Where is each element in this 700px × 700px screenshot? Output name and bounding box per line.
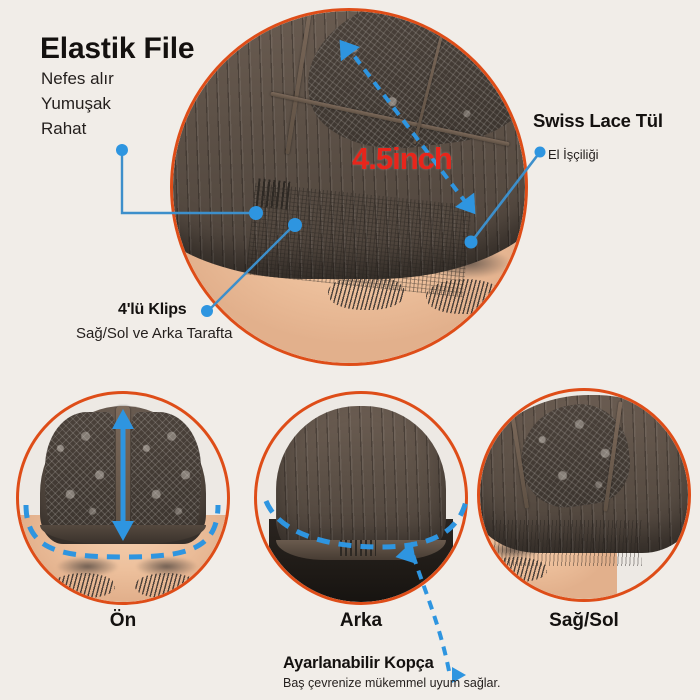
wig-cap-top-view bbox=[173, 11, 525, 363]
top-feature-panel: Elastik File Nefes alır Yumuşak Rahat Sw… bbox=[0, 0, 700, 375]
adjustable-strap-hook bbox=[340, 540, 375, 557]
wig-cap-front-view bbox=[19, 394, 227, 602]
measurement-label: 4.5inch bbox=[352, 142, 452, 176]
elastic-feature-title: Elastik File bbox=[40, 32, 194, 66]
elastic-line-2: Yumuşak bbox=[41, 91, 114, 116]
wig-cap-side-view bbox=[480, 391, 688, 599]
swiss-lace-title: Swiss Lace Tül bbox=[533, 110, 663, 132]
caption-back: Arka bbox=[254, 610, 468, 632]
side-view-circle bbox=[477, 388, 691, 602]
elastic-feature-lines: Nefes alır Yumuşak Rahat bbox=[41, 66, 114, 141]
swiss-lace-subtitle: El İşçiliği bbox=[548, 146, 599, 163]
infographic-canvas: Elastik File Nefes alır Yumuşak Rahat Sw… bbox=[0, 0, 700, 700]
main-photo-circle bbox=[170, 8, 528, 366]
back-view-circle bbox=[254, 391, 468, 605]
clips-feature-subtitle: Sağ/Sol ve Arka Tarafta bbox=[76, 324, 232, 343]
elastic-line-3: Rahat bbox=[41, 116, 114, 141]
clips-feature-title: 4'lü Klips bbox=[118, 300, 187, 320]
wig-cap-back-view bbox=[257, 394, 465, 602]
wig-clip-comb bbox=[256, 178, 290, 209]
adjustable-strap-subtitle: Baş çevrenize mükemmel uyum sağlar. bbox=[283, 675, 500, 691]
caption-front: Ön bbox=[16, 610, 230, 632]
adjustable-strap-title: Ayarlanabilir Kopça bbox=[283, 653, 434, 673]
front-view-circle bbox=[16, 391, 230, 605]
caption-side: Sağ/Sol bbox=[477, 610, 691, 632]
bottom-views-panel: Ön Arka Sağ/Sol Ayarlanabilir Kopça Baş … bbox=[0, 375, 700, 700]
elastic-line-1: Nefes alır bbox=[41, 66, 114, 91]
